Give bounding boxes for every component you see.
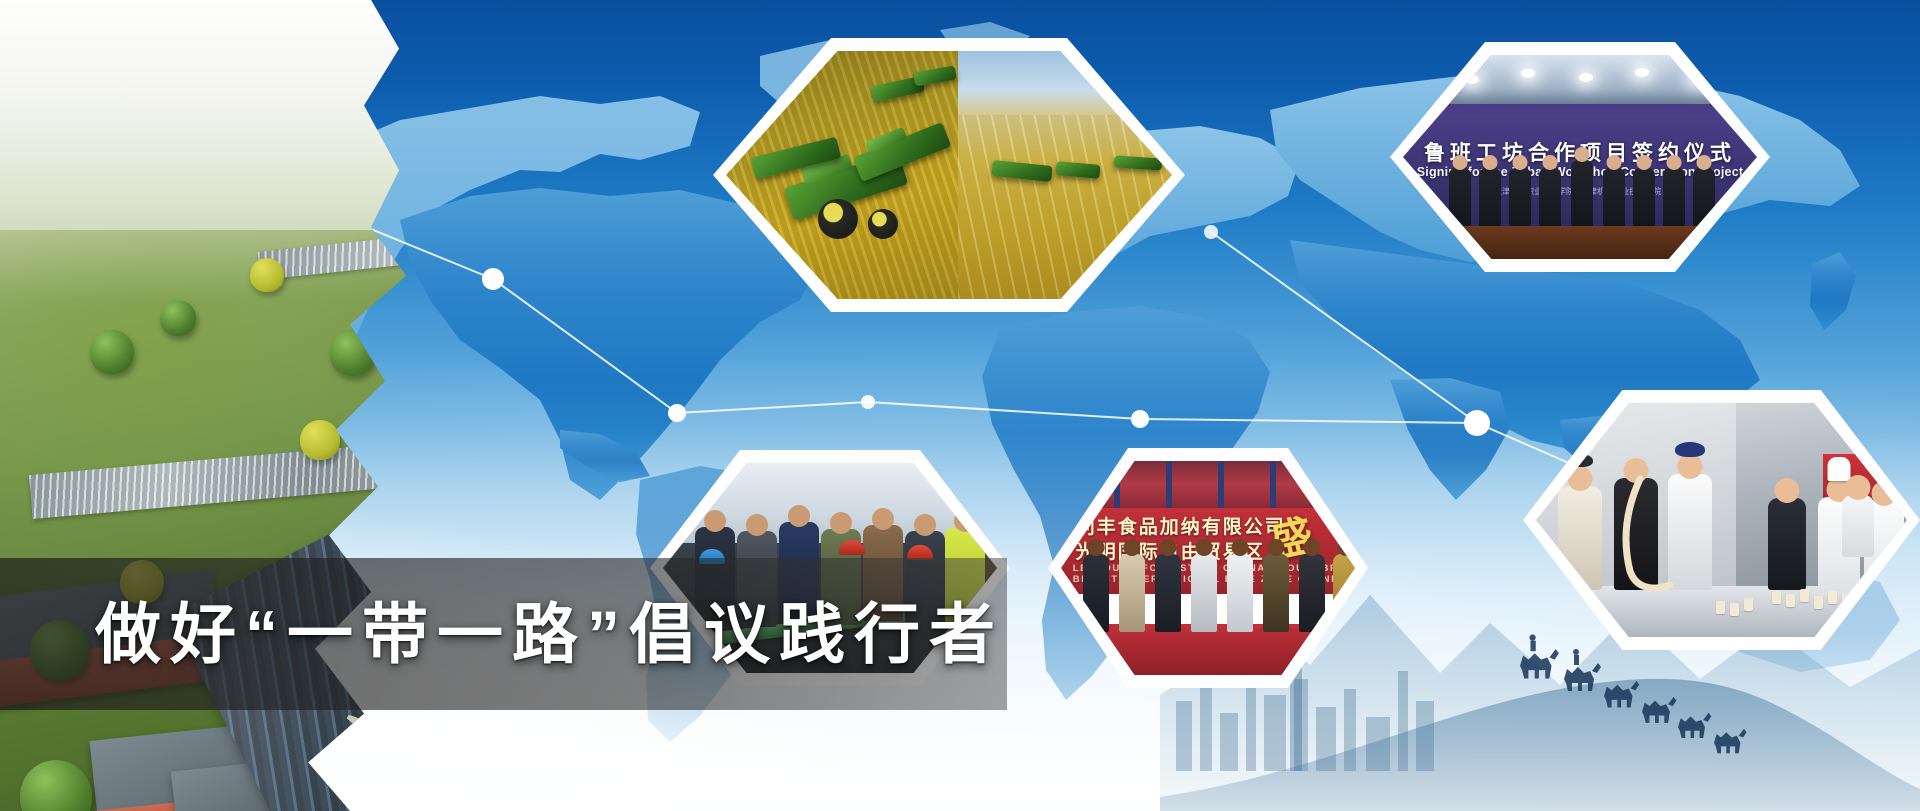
red-helmet-icon — [839, 540, 865, 555]
banner-stage: 鲁班工坊合作项目签约仪式 Signing for the Luban Works… — [0, 0, 1920, 811]
luban-signing-photo: 鲁班工坊合作项目签约仪式 Signing for the Luban Works… — [1403, 55, 1757, 259]
hexagon-photo-frame — [1536, 403, 1907, 637]
leefound-ceremony-photo: 利丰食品加纳有限公司 光明国际自由贸易区 LEEFOUND FOOD STUFF… — [1061, 461, 1355, 675]
hexagon-photo-frame: 鲁班工坊合作项目签约仪式 Signing for the Luban Works… — [1403, 55, 1757, 259]
hexagon-photo-frame: 利丰食品加纳有限公司 光明国际自由贸易区 LEEFOUND FOOD STUFF… — [1061, 461, 1355, 675]
hexagon-photo-frame — [726, 51, 1172, 299]
harvest-photo — [726, 51, 1172, 299]
page-title: 做好“一带一路”倡议践行者 — [95, 580, 1004, 688]
culinary-exchange-photo — [1536, 403, 1907, 637]
